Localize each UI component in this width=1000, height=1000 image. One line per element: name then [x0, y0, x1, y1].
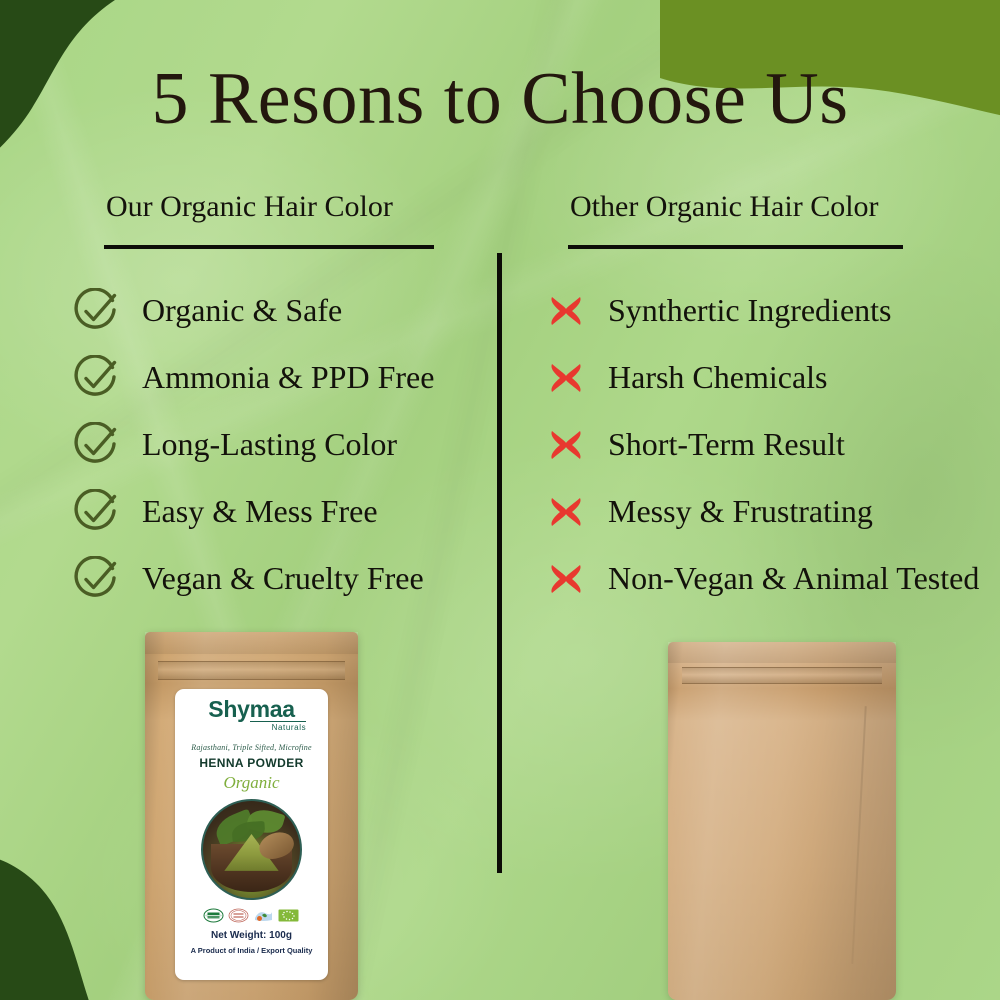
list-item: Vegan & Cruelty Free — [68, 545, 478, 612]
usda-organic-badge — [203, 908, 224, 923]
list-item: Organic & Safe — [68, 277, 478, 344]
check-circle-icon — [68, 355, 124, 401]
list-item: Long-Lasting Color — [68, 411, 478, 478]
certification-badges — [203, 908, 299, 923]
list-item-label: Long-Lasting Color — [142, 426, 397, 463]
list-item-label: Synthertic Ingredients — [608, 292, 891, 329]
origin-text: A Product of India / Export Quality — [191, 946, 313, 955]
list-item: Non-Vegan & Animal Tested — [538, 545, 988, 612]
list-item: Short-Term Result — [538, 411, 988, 478]
product-pouch-ours: Shymaa Naturals Rajasthani, Triple Sifte… — [145, 632, 358, 1000]
infographic-canvas: 5 Resons to Choose Us Our Organic Hair C… — [0, 0, 1000, 1000]
list-item: Harsh Chemicals — [538, 344, 988, 411]
cross-icon — [538, 558, 594, 600]
benefits-list-ours: Organic & Safe Ammonia & PPD Free Long-L… — [68, 277, 478, 612]
list-item: Messy & Frustrating — [538, 478, 988, 545]
check-circle-icon — [68, 489, 124, 535]
column-heading-others: Other Organic Hair Color — [570, 190, 879, 224]
list-item: Easy & Mess Free — [68, 478, 478, 545]
pouch-top-seam — [668, 642, 896, 663]
eu-organic-leaf-badge — [278, 908, 299, 923]
column-heading-ours: Our Organic Hair Color — [106, 190, 393, 224]
list-item-label: Vegan & Cruelty Free — [142, 560, 424, 597]
brand-subtitle: Naturals — [250, 721, 307, 732]
ecocert-badge — [228, 908, 249, 923]
check-circle-icon — [68, 556, 124, 602]
competitor-pouch-plain — [668, 642, 896, 1000]
column-rule-ours — [104, 245, 434, 249]
column-divider — [497, 253, 502, 873]
list-item-label: Easy & Mess Free — [142, 493, 378, 530]
cross-icon — [538, 290, 594, 332]
brand-name: Shymaa — [208, 698, 294, 721]
list-item-label: Harsh Chemicals — [608, 359, 828, 396]
henna-powder-bowl-image — [201, 799, 302, 900]
organic-word: Organic — [223, 773, 279, 793]
pouch-top-seam — [145, 632, 358, 654]
pouch-fold-crease — [851, 707, 866, 965]
check-circle-icon — [68, 288, 124, 334]
list-item-label: Non-Vegan & Animal Tested — [608, 560, 979, 597]
product-name: HENNA POWDER — [199, 756, 303, 770]
column-rule-others — [568, 245, 903, 249]
list-item: Synthertic Ingredients — [538, 277, 988, 344]
page-title: 5 Resons to Choose Us — [0, 62, 1000, 136]
net-weight-text: Net Weight: 100g — [211, 930, 292, 941]
list-item-label: Organic & Safe — [142, 292, 342, 329]
check-circle-icon — [68, 422, 124, 468]
india-organic-badge — [253, 908, 274, 923]
cross-icon — [538, 424, 594, 466]
cross-icon — [538, 357, 594, 399]
drawbacks-list-others: Synthertic Ingredients Harsh Chemicals S… — [538, 277, 988, 612]
cross-icon — [538, 491, 594, 533]
list-item-label: Ammonia & PPD Free — [142, 359, 434, 396]
list-item-label: Short-Term Result — [608, 426, 845, 463]
product-tagline: Rajasthani, Triple Sifted, Microfine — [191, 743, 311, 752]
pouch-zipper — [158, 661, 345, 680]
pouch-zipper — [682, 667, 883, 684]
product-label: Shymaa Naturals Rajasthani, Triple Sifte… — [175, 689, 328, 980]
list-item-label: Messy & Frustrating — [608, 493, 873, 530]
list-item: Ammonia & PPD Free — [68, 344, 478, 411]
